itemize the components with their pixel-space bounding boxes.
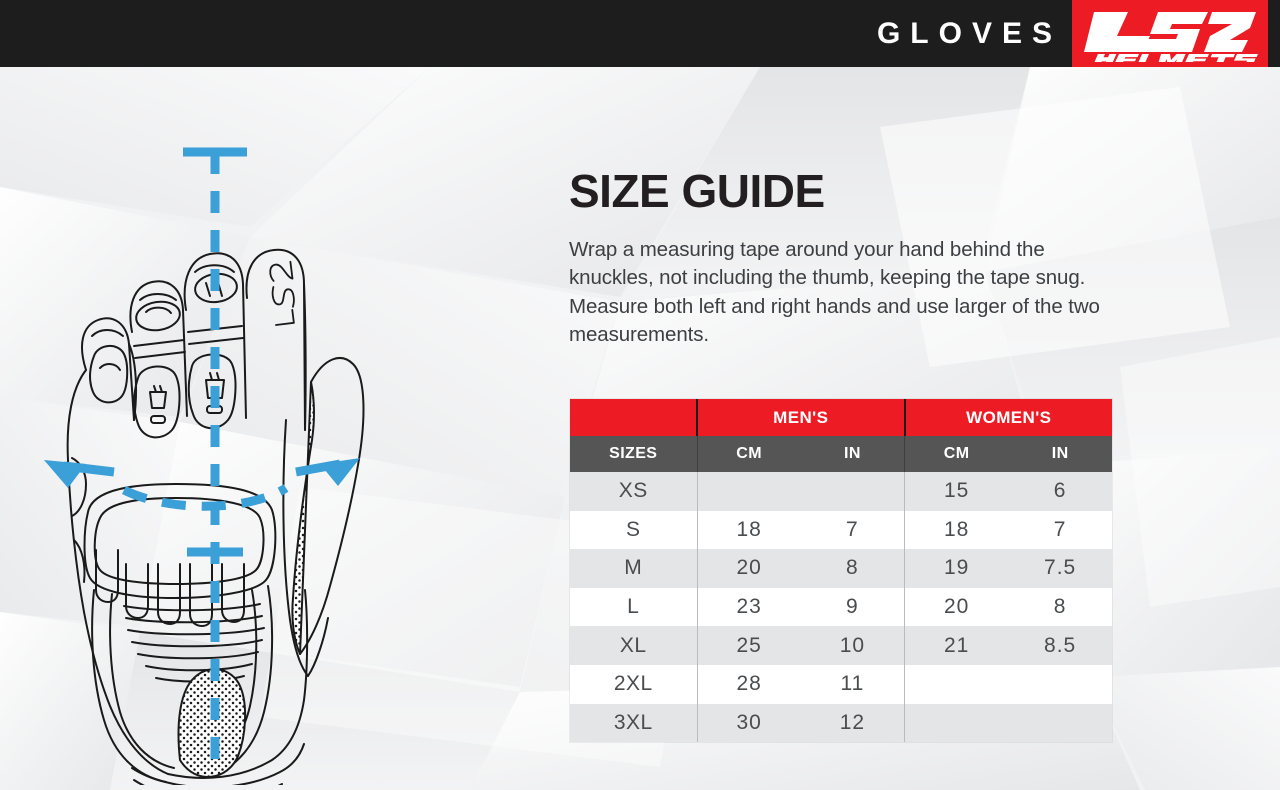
cell-women-in [1008, 665, 1112, 704]
cell-women-in: 8 [1008, 588, 1112, 627]
table-row: 2XL2811 [570, 665, 1112, 704]
cell-men-cm: 28 [697, 665, 801, 704]
unit-header-men-cm: CM [697, 436, 801, 472]
unit-header-men-in: IN [801, 436, 905, 472]
cell-women-cm: 19 [905, 549, 1009, 588]
table-unit-header-row: SIZES CM IN CM IN [570, 436, 1112, 472]
page-title: SIZE GUIDE [569, 168, 1129, 214]
cell-men-cm: 30 [697, 704, 801, 743]
glove-illustration [28, 120, 388, 785]
table-group-header-row: MEN'S WOMEN'S [570, 399, 1112, 436]
cell-men-cm [697, 472, 801, 511]
glove-line-art-icon [28, 120, 388, 785]
cell-men-in: 8 [801, 549, 905, 588]
cell-women-cm [905, 704, 1009, 743]
unit-header-sizes: SIZES [570, 436, 697, 472]
measuring-instructions: Wrap a measuring tape around your hand b… [569, 236, 1129, 350]
cell-women-in: 8.5 [1008, 626, 1112, 665]
cell-men-in: 12 [801, 704, 905, 743]
cell-size: XL [570, 626, 697, 665]
cell-women-cm: 20 [905, 588, 1009, 627]
size-chart-table: MEN'S WOMEN'S SIZES CM IN CM IN XS156S18… [570, 399, 1112, 742]
table-row: L239208 [570, 588, 1112, 627]
cell-men-cm: 25 [697, 626, 801, 665]
unit-header-women-cm: CM [905, 436, 1009, 472]
cell-women-cm: 21 [905, 626, 1009, 665]
unit-header-women-in: IN [1008, 436, 1112, 472]
size-guide-panel: SIZE GUIDE Wrap a measuring tape around … [569, 168, 1129, 350]
cell-men-cm: 23 [697, 588, 801, 627]
cell-women-in: 6 [1008, 472, 1112, 511]
group-header-womens: WOMEN'S [905, 399, 1113, 436]
cell-women-in [1008, 704, 1112, 743]
cell-men-in: 11 [801, 665, 905, 704]
cell-women-cm: 18 [905, 511, 1009, 550]
table-row: S187187 [570, 511, 1112, 550]
cell-size: S [570, 511, 697, 550]
cell-size: 2XL [570, 665, 697, 704]
cell-men-in [801, 472, 905, 511]
cell-men-in: 7 [801, 511, 905, 550]
cell-women-cm: 15 [905, 472, 1009, 511]
cell-size: 3XL [570, 704, 697, 743]
table-row: XS156 [570, 472, 1112, 511]
cell-size: L [570, 588, 697, 627]
cell-men-in: 9 [801, 588, 905, 627]
cell-men-cm: 18 [697, 511, 801, 550]
table-row: M208197.5 [570, 549, 1112, 588]
cell-women-cm [905, 665, 1009, 704]
cell-women-in: 7 [1008, 511, 1112, 550]
cell-women-in: 7.5 [1008, 549, 1112, 588]
size-chart-body: XS156S187187M208197.5L239208XL2510218.52… [570, 472, 1112, 742]
cell-men-cm: 20 [697, 549, 801, 588]
table-row: 3XL3012 [570, 704, 1112, 743]
top-header-bar: GLOVES [0, 0, 1280, 67]
group-header-mens: MEN'S [697, 399, 905, 436]
measure-arrow-left [44, 460, 86, 488]
group-header-blank [570, 399, 697, 436]
ls2-brand-plate [1072, 0, 1268, 67]
ls2-helmets-logo-icon [1080, 6, 1260, 62]
table-row: XL2510218.5 [570, 626, 1112, 665]
cell-men-in: 10 [801, 626, 905, 665]
cell-size: M [570, 549, 697, 588]
cell-size: XS [570, 472, 697, 511]
page-category-title: GLOVES [877, 0, 1062, 67]
